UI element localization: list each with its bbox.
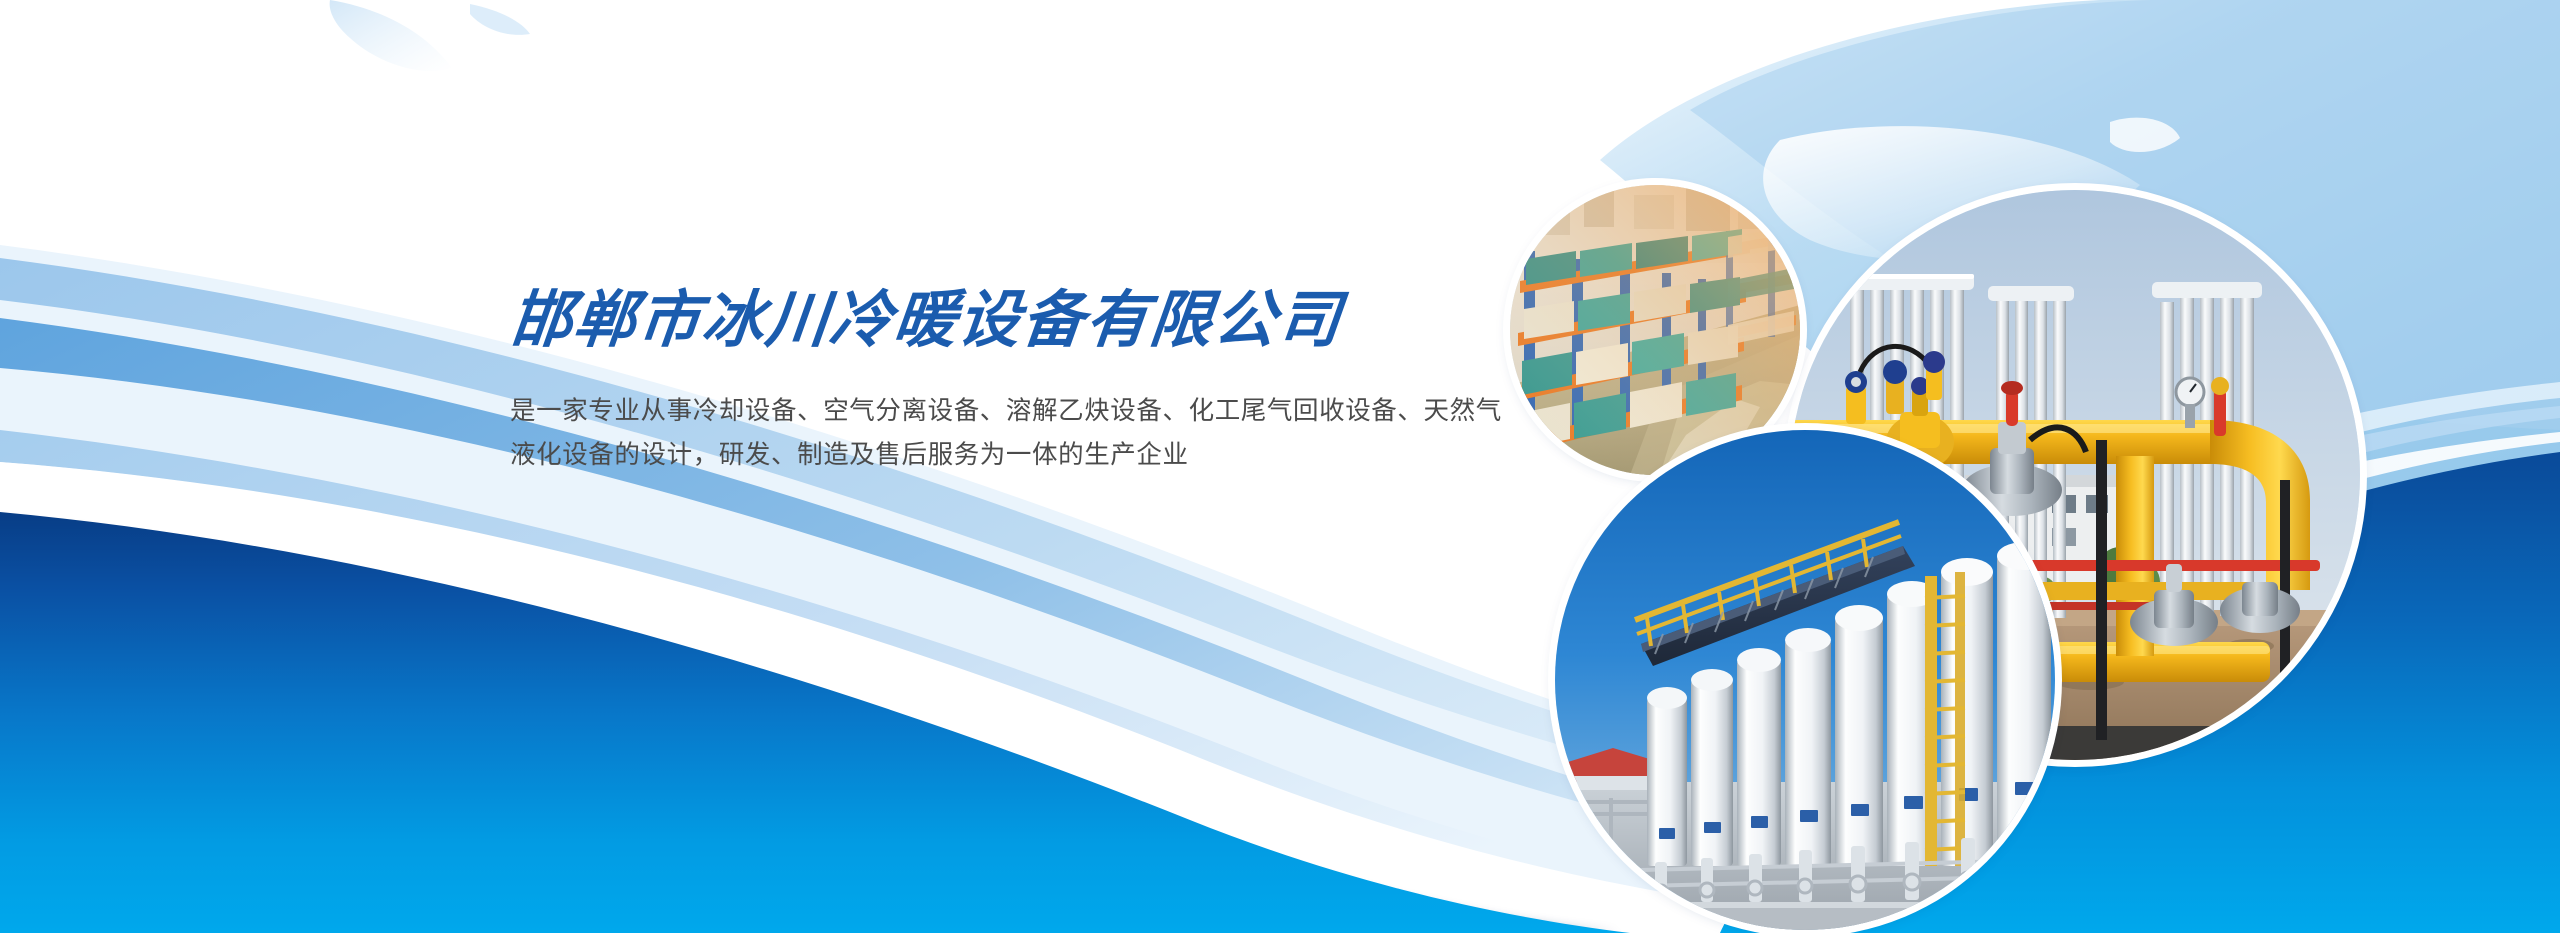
company-banner: 邯郸市冰川冷暖设备有限公司 是一家专业从事冷却设备、空气分离设备、溶解乙炔设备、… bbox=[0, 0, 2560, 933]
photo-circle-cryogenic-tanks bbox=[1555, 430, 2055, 930]
banner-text-block: 邯郸市冰川冷暖设备有限公司 是一家专业从事冷却设备、空气分离设备、溶解乙炔设备、… bbox=[510, 290, 1520, 478]
company-description-line-2: 液化设备的设计，研发、制造及售后服务为一体的生产企业 bbox=[510, 434, 1510, 478]
company-description-line-1: 是一家专业从事冷却设备、空气分离设备、溶解乙炔设备、化工尾气回收设备、天然气 bbox=[510, 390, 1510, 434]
warehouse-shelving-image bbox=[1510, 185, 1800, 475]
cryogenic-storage-tanks-image bbox=[1555, 430, 2055, 930]
photo-circle-warehouse bbox=[1510, 185, 1800, 475]
company-title: 邯郸市冰川冷暖设备有限公司 bbox=[507, 290, 1524, 352]
company-description: 是一家专业从事冷却设备、空气分离设备、溶解乙炔设备、化工尾气回收设备、天然气 液… bbox=[510, 390, 1510, 478]
